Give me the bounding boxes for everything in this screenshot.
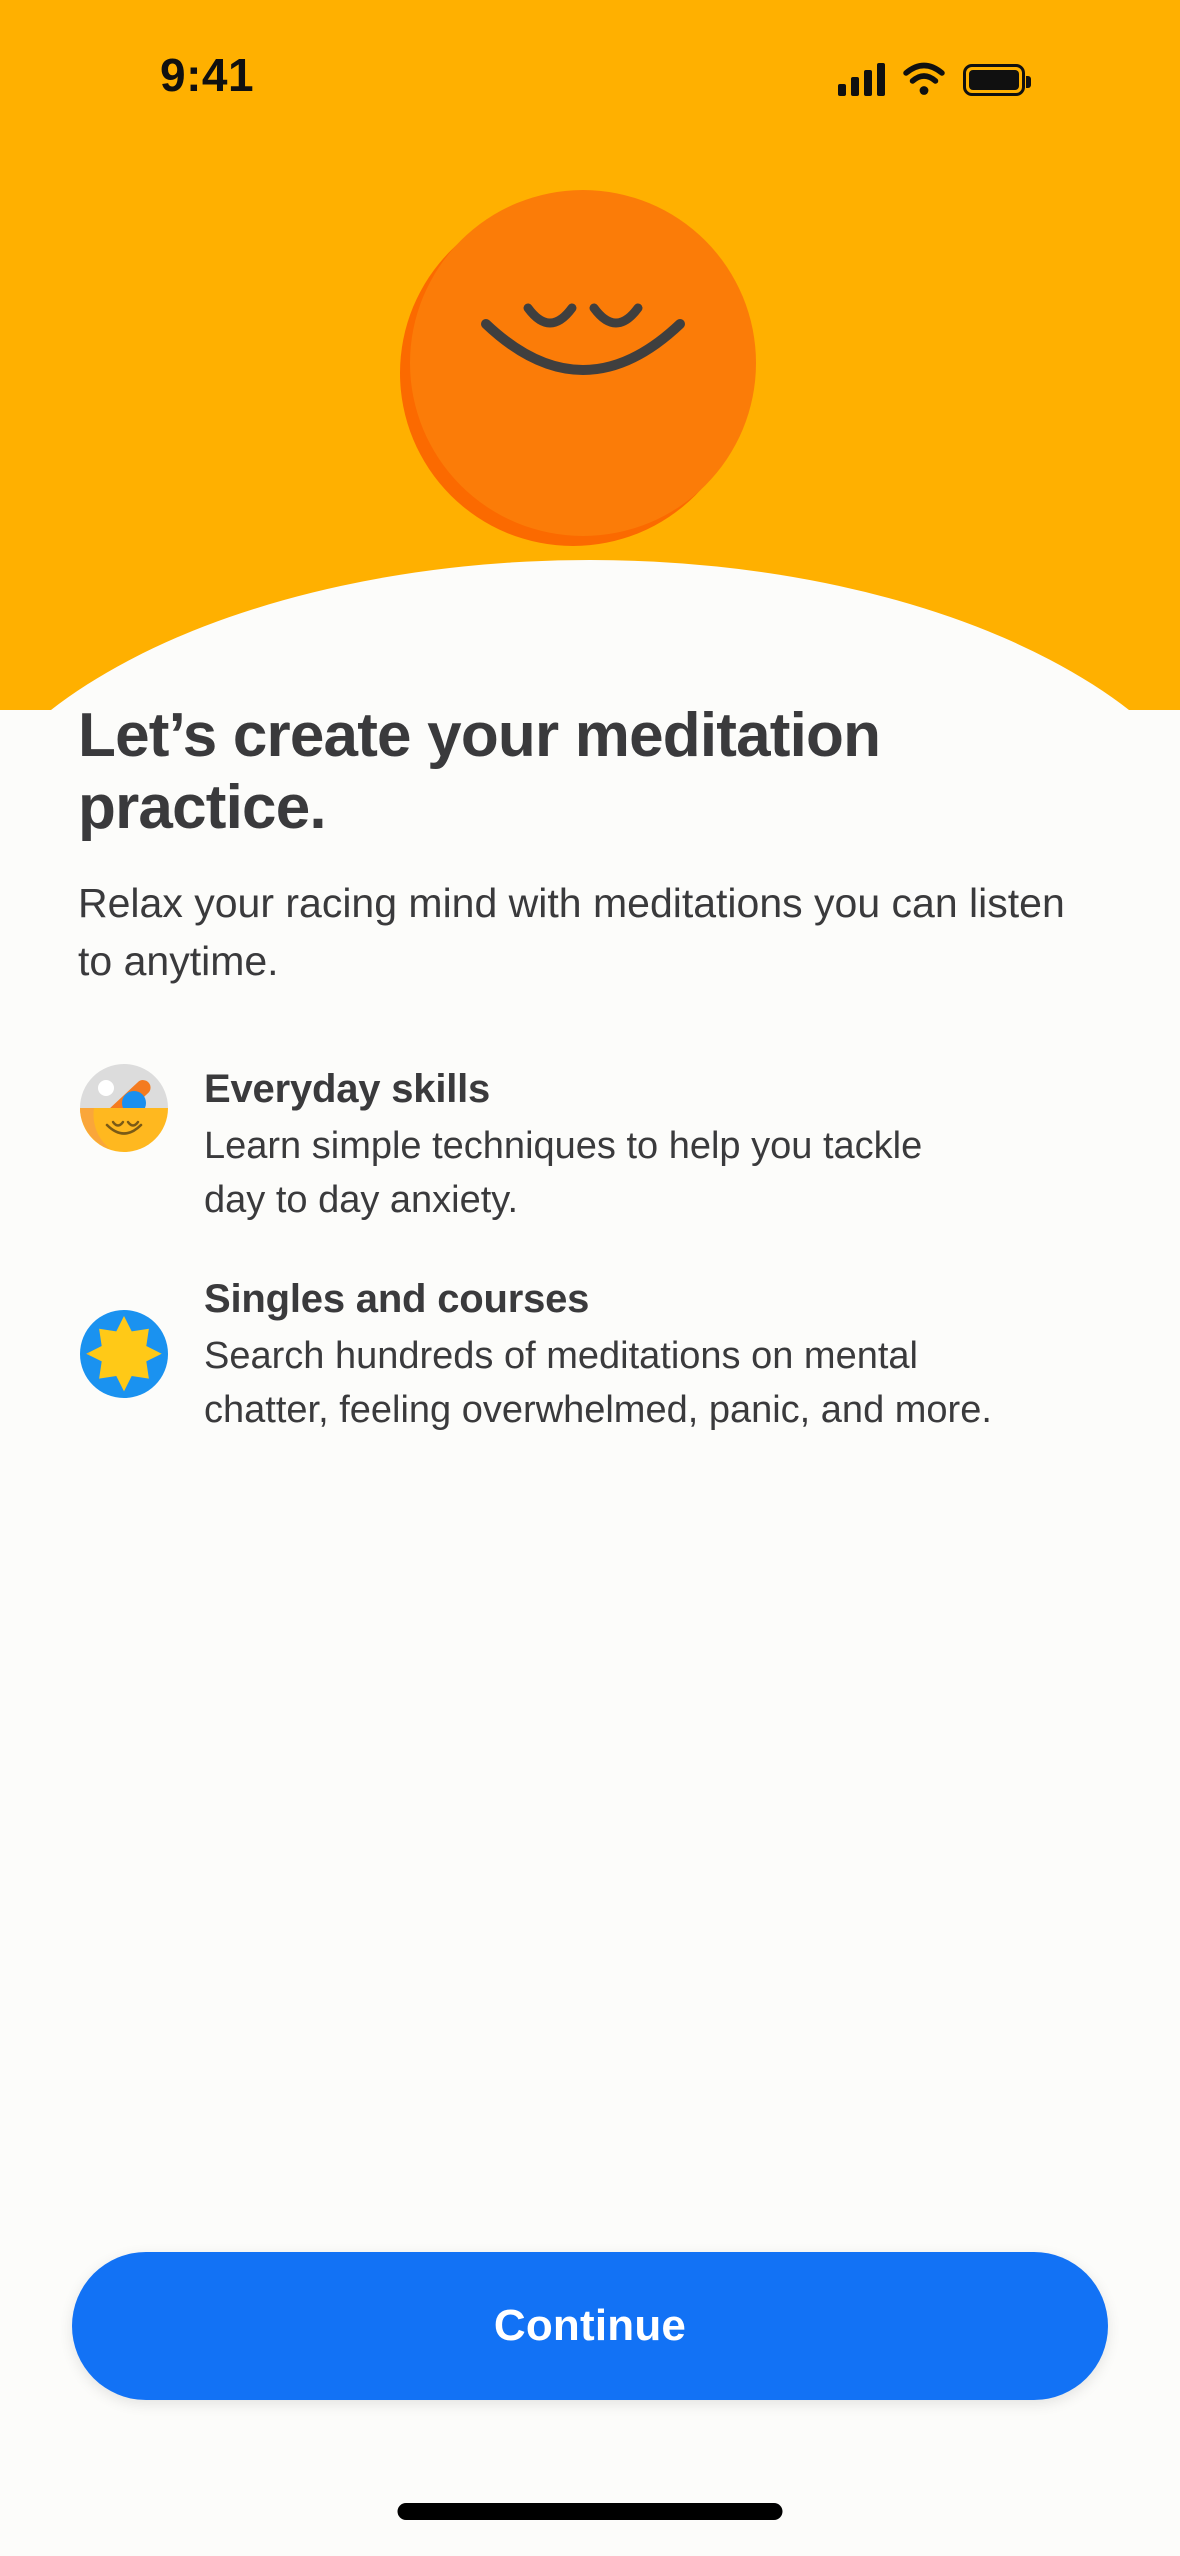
feature-list: Everyday skills Learn simple techniques … xyxy=(78,1062,1102,1438)
feature-title: Singles and courses xyxy=(204,1274,994,1324)
everyday-skills-icon xyxy=(78,1062,170,1154)
main-content: Let’s create your meditation practice. R… xyxy=(0,700,1180,1438)
feature-text-block: Everyday skills Learn simple techniques … xyxy=(204,1062,994,1228)
status-bar-time: 9:41 xyxy=(160,52,254,98)
app-screen: 9:41 Let’s create your meditation practi… xyxy=(0,0,1180,2556)
feature-title: Everyday skills xyxy=(204,1064,994,1114)
wifi-icon xyxy=(903,62,945,96)
list-item: Everyday skills Learn simple techniques … xyxy=(78,1062,1102,1228)
status-bar-icons xyxy=(838,50,1025,96)
cta-area: Continue xyxy=(0,2252,1180,2400)
smiling-meditation-face-icon xyxy=(410,190,756,536)
feature-text-block: Singles and courses Search hundreds of m… xyxy=(204,1272,994,1438)
page-subtitle: Relax your racing mind with meditations … xyxy=(78,874,1098,990)
battery-full-icon xyxy=(963,64,1025,96)
home-indicator[interactable] xyxy=(398,2503,783,2520)
continue-button[interactable]: Continue xyxy=(72,2252,1108,2400)
singles-and-courses-icon xyxy=(78,1308,170,1400)
page-title: Let’s create your meditation practice. xyxy=(78,700,1008,844)
cellular-signal-icon xyxy=(838,62,885,96)
feature-description: Learn simple techniques to help you tack… xyxy=(204,1120,994,1228)
feature-description: Search hundreds of meditations on mental… xyxy=(204,1330,994,1438)
status-bar: 9:41 xyxy=(0,0,1180,130)
list-item: Singles and courses Search hundreds of m… xyxy=(78,1272,1102,1438)
